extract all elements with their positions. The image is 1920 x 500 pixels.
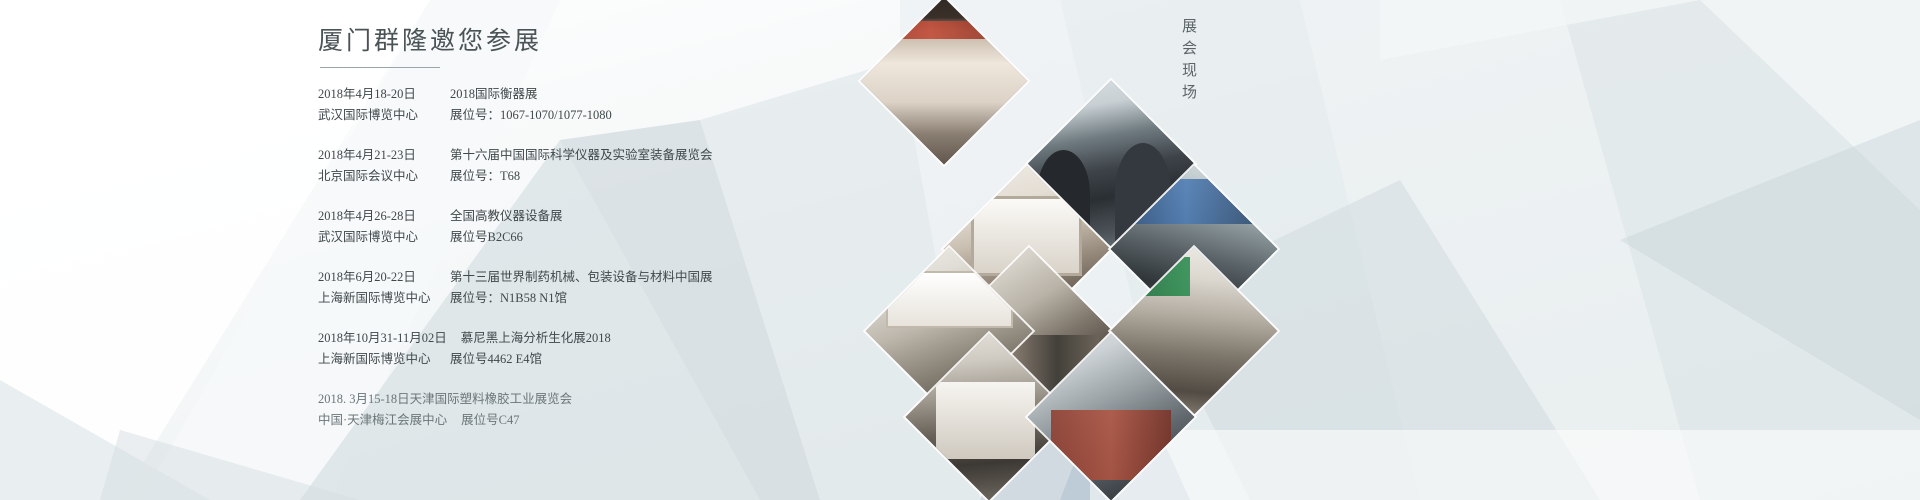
event-venue: 上海新国际博览中心 xyxy=(318,288,436,309)
event-title: 第十三届世界制药机械、包装设备与材料中国展 xyxy=(436,267,713,288)
event-title: 2018国际衡器展 xyxy=(436,84,538,105)
event-title: 全国高教仪器设备展 xyxy=(436,206,563,227)
event-booth: 展位号：N1B58 N1馆 xyxy=(436,288,567,309)
event-booth: 展位号B2C66 xyxy=(436,227,523,248)
event-date: 2018年4月26-28日 xyxy=(318,206,436,227)
event-date-title: 2018. 3月15-18日天津国际塑料橡胶工业展览会 xyxy=(318,389,572,410)
event-booth: 展位号C47 xyxy=(447,410,519,431)
event-venue: 上海新国际博览中心 xyxy=(318,349,436,370)
event-venue: 中国·天津梅江会展中心 xyxy=(318,410,447,431)
event-venue: 武汉国际博览中心 xyxy=(318,105,436,126)
event-date: 2018年10月31-11月02日 xyxy=(318,328,447,349)
event-title: 第十六届中国国际科学仪器及实验室装备展览会 xyxy=(436,145,713,166)
event-venue: 武汉国际博览中心 xyxy=(318,227,436,248)
event-venue: 北京国际会议中心 xyxy=(318,166,436,187)
collage-caption: 展会现场 xyxy=(1178,18,1199,106)
event-date: 2018年6月20-22日 xyxy=(318,267,436,288)
booth-banner-photo xyxy=(861,0,1028,164)
promo-banner: 厦门群隆邀您参展 2018年4月18-20日2018国际衡器展 武汉国际博览中心… xyxy=(0,0,1920,500)
event-date: 2018年4月18-20日 xyxy=(318,84,436,105)
event-date: 2018年4月21-23日 xyxy=(318,145,436,166)
event-title: 慕尼黑上海分析生化展2018 xyxy=(447,328,611,349)
event-booth: 展位号：T68 xyxy=(436,166,520,187)
event-booth: 展位号：1067-1070/1077-1080 xyxy=(436,105,612,126)
event-booth: 展位号4462 E4馆 xyxy=(436,349,542,370)
title-divider xyxy=(320,67,440,68)
